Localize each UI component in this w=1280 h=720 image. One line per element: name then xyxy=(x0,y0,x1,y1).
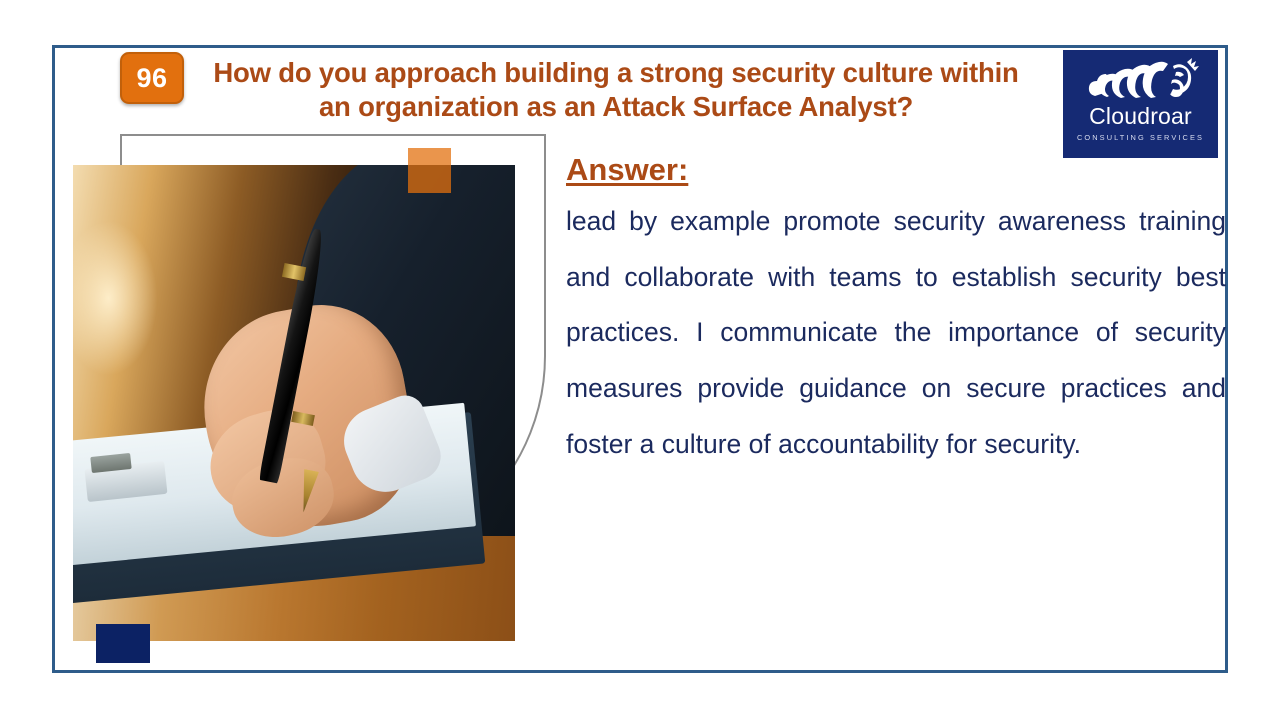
question-title: How do you approach building a strong se… xyxy=(196,56,1036,123)
orange-square-decoration xyxy=(408,148,451,193)
question-number-badge: 96 xyxy=(120,52,184,104)
answer-label: Answer: xyxy=(566,148,726,193)
hand-writing-photo xyxy=(73,165,515,641)
answer-body-text: lead by example promote security awarene… xyxy=(566,194,1226,472)
answer-column: lead by example promote security awarene… xyxy=(566,148,1228,638)
slide-canvas: 96 How do you approach building a strong… xyxy=(0,0,1280,720)
cloudroar-lion-cloud-icon xyxy=(1081,56,1201,104)
navy-square-decoration xyxy=(96,624,150,663)
cloudroar-logo: Cloudroar CONSULTING SERVICES xyxy=(1063,50,1218,158)
photo-scene xyxy=(73,165,515,641)
logo-wordmark: Cloudroar xyxy=(1089,105,1192,128)
question-number-text: 96 xyxy=(136,65,167,92)
logo-tagline: CONSULTING SERVICES xyxy=(1077,133,1204,142)
